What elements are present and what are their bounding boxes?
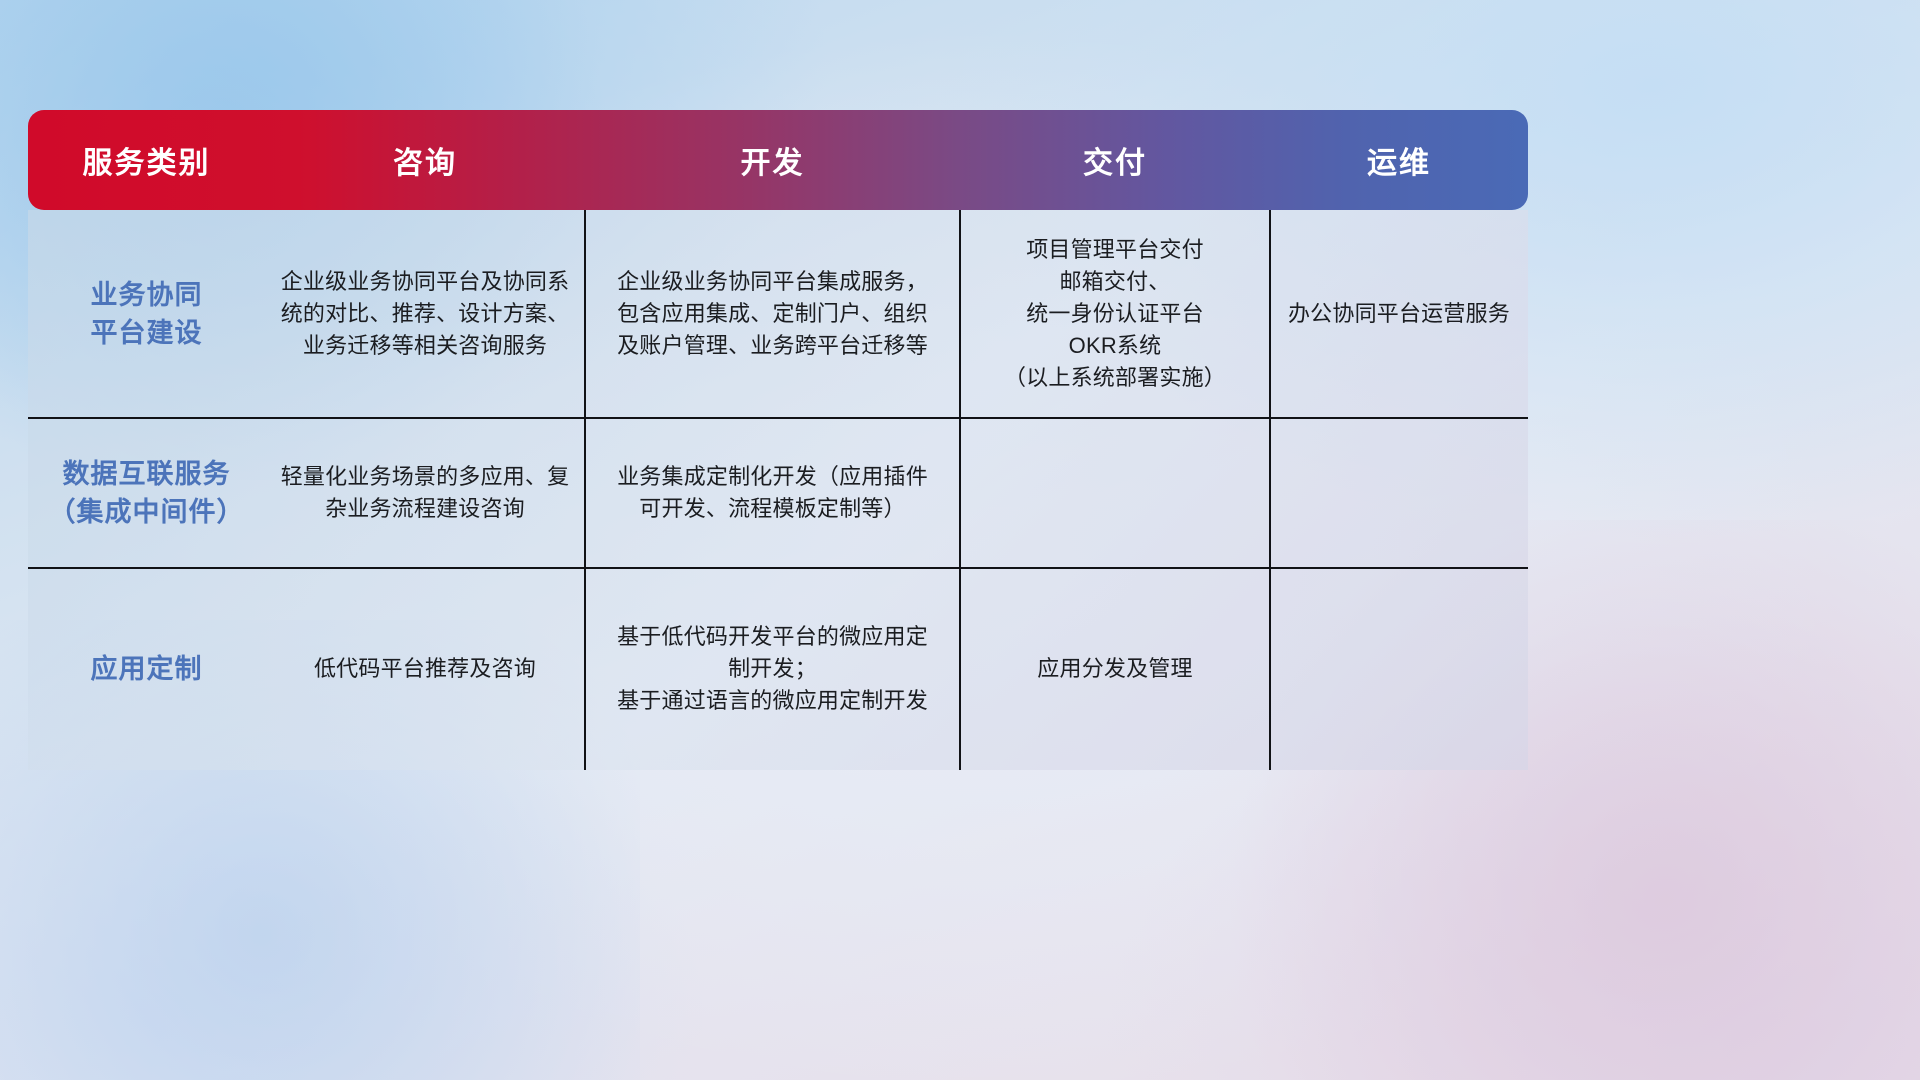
cell-delivery [960,418,1270,568]
cell-text: 企业级业务协同平台集成服务， 包含应用集成、定制门户、组织 及账户管理、业务跨平… [617,266,928,362]
cell-development: 企业级业务协同平台集成服务， 包含应用集成、定制门户、组织 及账户管理、业务跨平… [585,210,960,418]
column-header-consulting: 咨询 [265,138,585,182]
cell-operations [1270,418,1528,568]
row-label-text: 数据互联服务 （集成中间件） [49,455,245,532]
cell-operations: 办公协同平台运营服务 [1270,210,1528,418]
cell-text: 轻量化业务场景的多应用、复 杂业务流程建设咨询 [281,461,570,525]
row-label-cell: 业务协同 平台建设 [28,210,265,418]
cell-operations [1270,568,1528,770]
cell-text: 业务集成定制化开发（应用插件 可开发、流程模板定制等） [617,461,928,525]
cell-text: 企业级业务协同平台及协同系 统的对比、推荐、设计方案、 业务迁移等相关咨询服务 [281,266,570,362]
row-label-cell: 数据互联服务 （集成中间件） [28,418,265,568]
table-header-row: 服务类别 咨询 开发 交付 运维 [28,110,1528,210]
row-label-cell: 应用定制 [28,568,265,770]
cell-delivery: 应用分发及管理 [960,568,1270,770]
cell-consulting: 企业级业务协同平台及协同系 统的对比、推荐、设计方案、 业务迁移等相关咨询服务 [265,210,585,418]
cell-text: 办公协同平台运营服务 [1288,298,1510,330]
column-header-development: 开发 [585,138,960,182]
cell-text: 低代码平台推荐及咨询 [314,653,536,685]
row-label-text: 业务协同 平台建设 [91,276,203,353]
table-row: 业务协同 平台建设 企业级业务协同平台及协同系 统的对比、推荐、设计方案、 业务… [28,210,1528,418]
service-matrix-table: 服务类别 咨询 开发 交付 运维 业务协同 平台建设 企业级业务协同平台及协同系… [28,110,1528,770]
table-row: 数据互联服务 （集成中间件） 轻量化业务场景的多应用、复 杂业务流程建设咨询 业… [28,418,1528,568]
column-header-operations: 运维 [1270,138,1528,182]
cell-consulting: 低代码平台推荐及咨询 [265,568,585,770]
row-label-text: 应用定制 [91,650,203,688]
column-header-delivery: 交付 [960,138,1270,182]
table-body: 业务协同 平台建设 企业级业务协同平台及协同系 统的对比、推荐、设计方案、 业务… [28,210,1528,770]
cell-text: 基于低代码开发平台的微应用定 制开发； 基于通过语言的微应用定制开发 [617,621,928,717]
cell-text: 应用分发及管理 [1037,653,1192,685]
cell-development: 业务集成定制化开发（应用插件 可开发、流程模板定制等） [585,418,960,568]
table-row: 应用定制 低代码平台推荐及咨询 基于低代码开发平台的微应用定 制开发； 基于通过… [28,568,1528,770]
cell-delivery: 项目管理平台交付 邮箱交付、 统一身份认证平台 OKR系统 （以上系统部署实施） [960,210,1270,418]
cell-development: 基于低代码开发平台的微应用定 制开发； 基于通过语言的微应用定制开发 [585,568,960,770]
cell-text: 项目管理平台交付 邮箱交付、 统一身份认证平台 OKR系统 （以上系统部署实施） [1004,234,1226,395]
cell-consulting: 轻量化业务场景的多应用、复 杂业务流程建设咨询 [265,418,585,568]
column-header-service-category: 服务类别 [28,138,265,182]
